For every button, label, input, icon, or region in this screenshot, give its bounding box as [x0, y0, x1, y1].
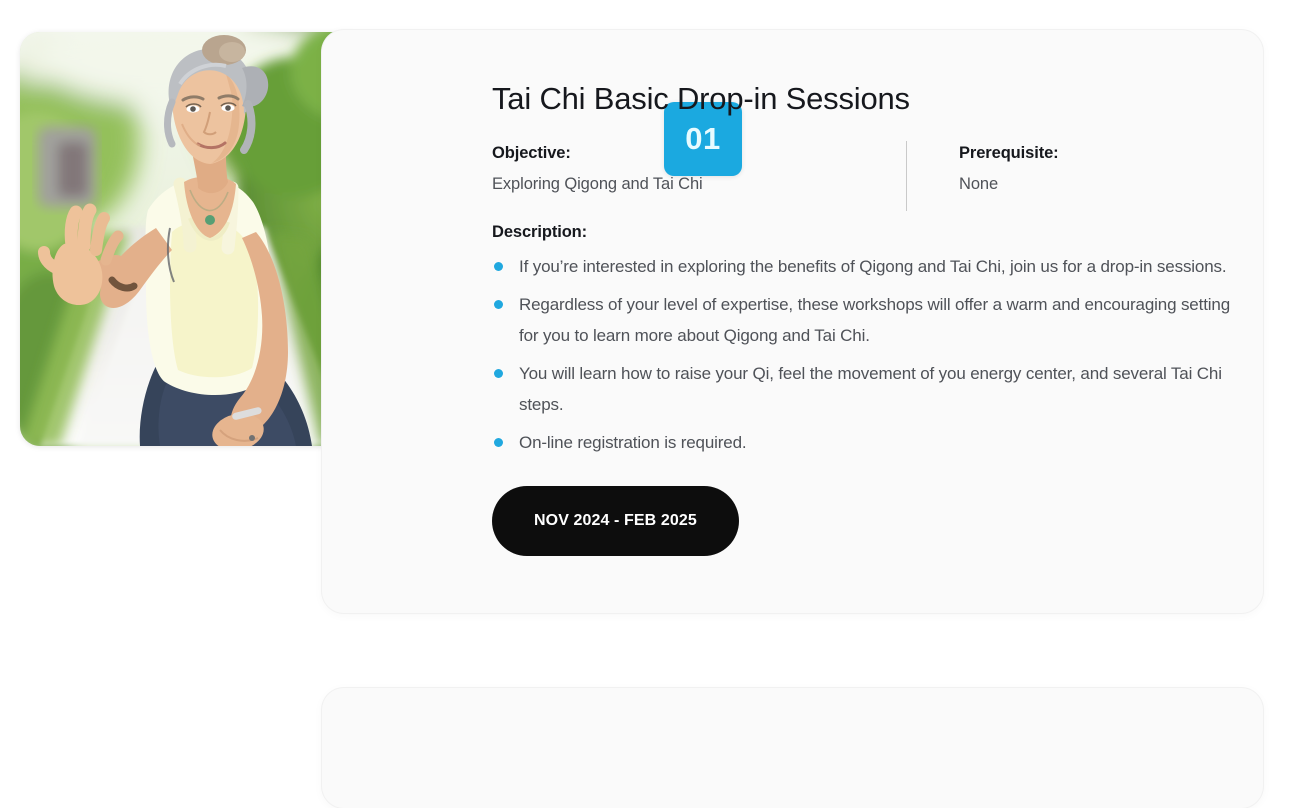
date-range-button[interactable]: NOV 2024 - FEB 2025	[492, 486, 739, 556]
course-photo	[20, 32, 368, 446]
objective-label: Objective:	[492, 141, 912, 165]
next-course-card[interactable]	[322, 688, 1263, 808]
prerequisite-value: None	[959, 172, 1059, 196]
list-item: Regardless of your level of expertise, t…	[492, 289, 1252, 351]
list-item: You will learn how to raise your Qi, fee…	[492, 358, 1252, 420]
list-item-text: On-line registration is required.	[519, 433, 747, 452]
meta-column-divider	[906, 141, 907, 211]
list-item-text: You will learn how to raise your Qi, fee…	[519, 364, 1222, 414]
description-label: Description:	[492, 221, 1239, 243]
description-list: If you’re interested in exploring the be…	[492, 251, 1252, 458]
bullet-dot-icon	[494, 300, 503, 309]
bullet-dot-icon	[494, 262, 503, 271]
prerequisite-label: Prerequisite:	[959, 141, 1059, 165]
page-root: 01 Tai Chi Basic Drop-in Sessions Object…	[0, 0, 1315, 700]
objective-column: Objective: Exploring Qigong and Tai Chi	[492, 141, 932, 196]
course-card: 01 Tai Chi Basic Drop-in Sessions Object…	[322, 30, 1263, 613]
bullet-dot-icon	[494, 438, 503, 447]
list-item: If you’re interested in exploring the be…	[492, 251, 1252, 282]
list-item-text: Regardless of your level of expertise, t…	[519, 295, 1230, 345]
course-meta-row: Objective: Exploring Qigong and Tai Chi …	[492, 141, 1239, 196]
bullet-dot-icon	[494, 369, 503, 378]
course-title: Tai Chi Basic Drop-in Sessions	[492, 80, 1239, 118]
list-item-text: If you’re interested in exploring the be…	[519, 257, 1226, 276]
course-card-body: Tai Chi Basic Drop-in Sessions Objective…	[492, 80, 1239, 556]
list-item: On-line registration is required.	[492, 427, 1252, 458]
objective-value: Exploring Qigong and Tai Chi	[492, 172, 912, 196]
prerequisite-column: Prerequisite: None	[932, 141, 1059, 196]
tai-chi-practitioner-photo	[20, 32, 368, 446]
